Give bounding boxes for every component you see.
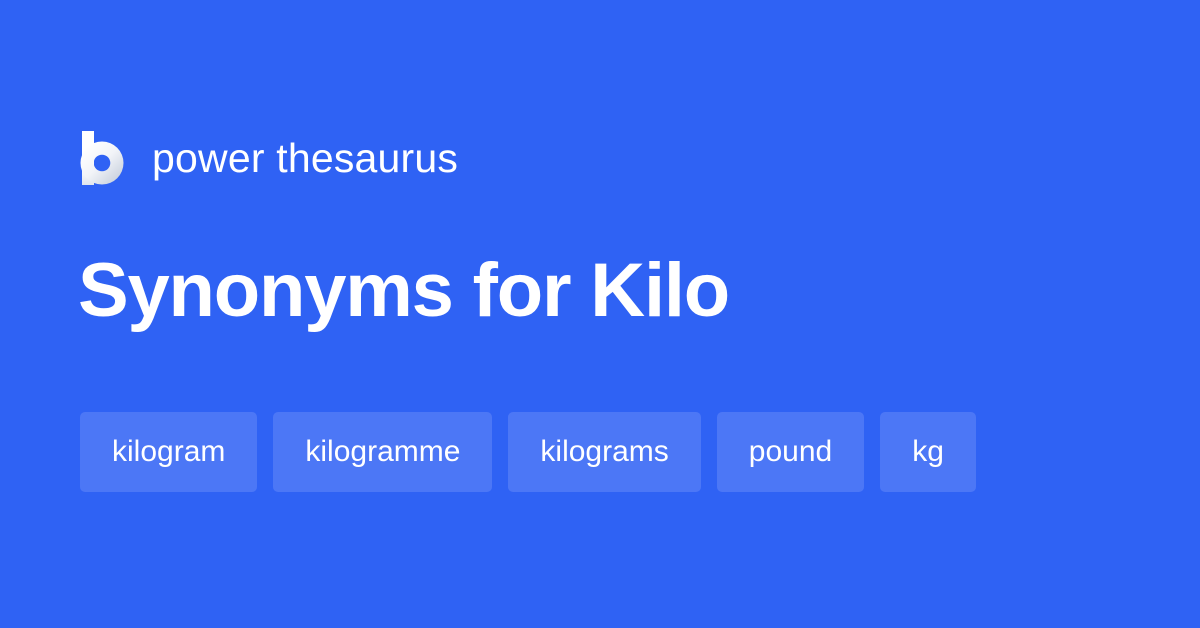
power-thesaurus-b-logo-icon <box>80 130 126 186</box>
synonym-chip[interactable]: pound <box>717 412 864 492</box>
synonym-chip[interactable]: kilogramme <box>273 412 492 492</box>
page-title: Synonyms for Kilo <box>78 249 729 333</box>
share-card: power thesaurus Synonyms for Kilo kilogr… <box>0 0 1200 628</box>
synonym-chip[interactable]: kilogram <box>80 412 257 492</box>
synonym-chip[interactable]: kilograms <box>508 412 700 492</box>
synonym-chip[interactable]: kg <box>880 412 976 492</box>
brand-header[interactable]: power thesaurus <box>80 126 458 190</box>
synonym-chip-list: kilogram kilogramme kilograms pound kg <box>80 412 976 492</box>
brand-name: power thesaurus <box>152 138 458 179</box>
